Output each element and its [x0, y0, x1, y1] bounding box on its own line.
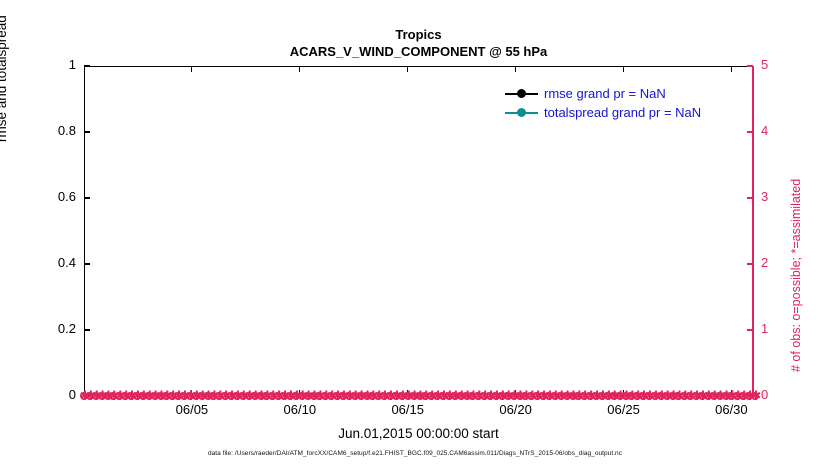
y-axis-right-title: # of obs: o=possible; *=assimilated: [789, 42, 803, 372]
x-axis-tick-label: 06/15: [368, 402, 448, 417]
y-axis-left-tick-label: 0.2: [6, 321, 76, 336]
x-axis-tick-label: 06/10: [260, 402, 340, 417]
x-axis-top-tick: [407, 66, 408, 72]
legend: rmse grand pr = NaNtotalspread grand pr …: [505, 84, 745, 122]
y-axis-left-tick-label: 0.6: [6, 189, 76, 204]
x-axis-top-tick: [299, 66, 300, 72]
legend-entry[interactable]: rmse grand pr = NaN: [505, 84, 745, 103]
legend-circle-marker-icon: [517, 108, 526, 117]
x-axis-tick: [515, 390, 516, 396]
y-axis-left-tick-label: 0: [6, 387, 76, 402]
y-axis-right-tick-label: 1: [761, 321, 768, 336]
y-axis-right-tick-label: 4: [761, 123, 768, 138]
x-axis-tick: [299, 390, 300, 396]
x-axis-title: Jun.01,2015 00:00:00 start: [84, 426, 753, 441]
right-axis-spine: [752, 66, 754, 397]
y-axis-left-tick: [84, 131, 90, 132]
y-axis-left-tick-label: 0.8: [6, 123, 76, 138]
y-axis-left-tick: [84, 263, 90, 264]
x-axis-tick: [407, 390, 408, 396]
x-axis-top-tick: [623, 66, 624, 72]
x-axis-tick-label: 06/30: [691, 402, 771, 417]
y-axis-right-inner-tick: [747, 329, 753, 330]
chart-title-block: Tropics ACARS_V_WIND_COMPONENT @ 55 hPa: [84, 26, 753, 60]
y-axis-right-inner-tick: [747, 131, 753, 132]
legend-circle-marker-icon: [517, 89, 526, 98]
x-axis-tick: [623, 390, 624, 396]
datafile-caption: data file: /Users/raeder/DAI/ATM_forcXX/…: [0, 450, 830, 457]
legend-line-marker-icon: [505, 106, 538, 120]
y-axis-left-tick: [84, 329, 90, 330]
legend-label: totalspread grand pr = NaN: [544, 105, 701, 120]
legend-line-marker-icon: [505, 87, 538, 101]
x-axis-top-tick: [191, 66, 192, 72]
y-axis-right-inner-tick: [747, 263, 753, 264]
y-axis-left-title: rmse and totalspread: [0, 0, 9, 142]
x-axis-top-tick: [515, 66, 516, 72]
y-axis-right-tick-label: 0: [761, 387, 768, 402]
x-axis-tick-label: 06/05: [152, 402, 232, 417]
y-axis-left-tick-label: 1: [6, 57, 76, 72]
x-axis-top-tick: [731, 66, 732, 72]
y-axis-left-tick-label: 0.4: [6, 255, 76, 270]
y-axis-left-tick: [84, 395, 90, 396]
legend-entry[interactable]: totalspread grand pr = NaN: [505, 103, 745, 122]
y-axis-right-tick-label: 5: [761, 57, 768, 72]
y-axis-right-tick-label: 2: [761, 255, 768, 270]
x-axis-tick: [731, 390, 732, 396]
legend-label: rmse grand pr = NaN: [544, 86, 666, 101]
x-axis-tick-label: 06/20: [476, 402, 556, 417]
y-axis-left-tick: [84, 197, 90, 198]
x-axis-tick-label: 06/25: [584, 402, 664, 417]
y-axis-right-inner-tick: [747, 65, 753, 66]
x-axis-tick: [191, 390, 192, 396]
y-axis-right-inner-tick: [747, 197, 753, 198]
chart-subtitle: ACARS_V_WIND_COMPONENT @ 55 hPa: [84, 43, 753, 60]
chart-title: Tropics: [84, 26, 753, 43]
y-axis-right-tick-label: 3: [761, 189, 768, 204]
y-axis-left-tick: [84, 65, 90, 66]
figure-canvas: Tropics ACARS_V_WIND_COMPONENT @ 55 hPa …: [0, 0, 830, 470]
y-axis-right-inner-tick: [747, 395, 753, 396]
